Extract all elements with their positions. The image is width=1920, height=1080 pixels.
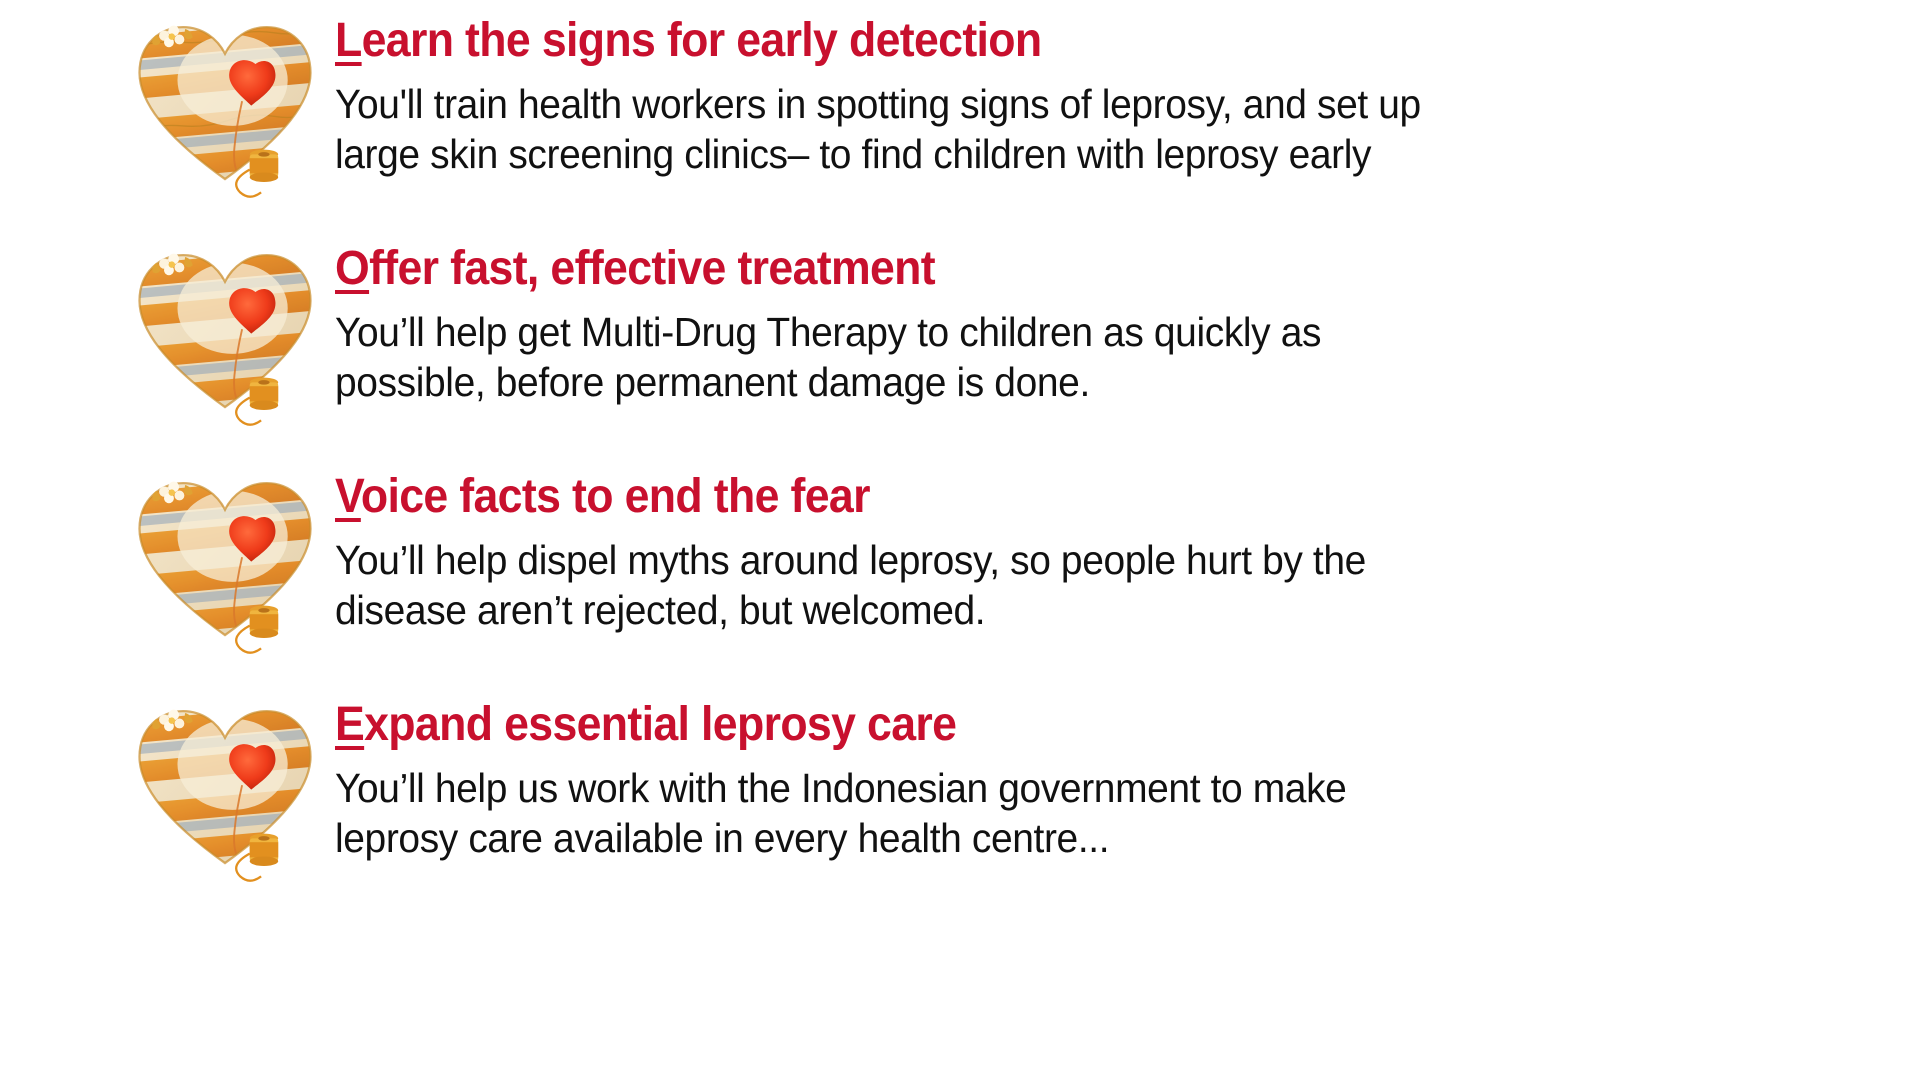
body-line: You’ll help dispel myths around leprosy,… xyxy=(335,535,1523,585)
item-body: You’ll help dispel myths around leprosy,… xyxy=(335,535,1523,635)
item-body: You'll train health workers in spotting … xyxy=(335,79,1523,179)
quilted-heart-emoji xyxy=(130,238,320,428)
heading-first-letter: L xyxy=(335,14,362,67)
list-item: Learn the signs for early detection You'… xyxy=(0,6,1920,234)
item-heading: Expand essential leprosy care xyxy=(335,696,1809,754)
body-line: disease aren’t rejected, but welcomed. xyxy=(335,585,1523,635)
heading-rest: xpand essential leprosy care xyxy=(364,698,956,751)
quilted-heart-emoji xyxy=(130,694,320,884)
icon-cell xyxy=(130,6,335,200)
text-cell: Learn the signs for early detection You'… xyxy=(335,6,1920,179)
item-heading: Learn the signs for early detection xyxy=(335,12,1809,70)
list-item: Expand essential leprosy care You’ll hel… xyxy=(0,690,1920,918)
text-cell: Offer fast, effective treatment You’ll h… xyxy=(335,234,1920,407)
body-line: large skin screening clinics– to find ch… xyxy=(335,129,1523,179)
quilted-heart-emoji xyxy=(130,466,320,656)
heading-first-letter: V xyxy=(335,470,361,523)
list-item: Voice facts to end the fear You’ll help … xyxy=(0,462,1920,690)
item-body: You’ll help get Multi-Drug Therapy to ch… xyxy=(335,307,1523,407)
icon-cell xyxy=(130,462,335,656)
item-heading: Voice facts to end the fear xyxy=(335,468,1809,526)
icon-cell xyxy=(130,234,335,428)
body-line: possible, before permanent damage is don… xyxy=(335,357,1523,407)
body-line: leprosy care available in every health c… xyxy=(335,813,1523,863)
body-line: You’ll help us work with the Indonesian … xyxy=(335,763,1523,813)
item-heading: Offer fast, effective treatment xyxy=(335,240,1809,298)
item-body: You’ll help us work with the Indonesian … xyxy=(335,763,1523,863)
text-cell: Voice facts to end the fear You’ll help … xyxy=(335,462,1920,635)
leprosy-benefits-list-page: Learn the signs for early detection You'… xyxy=(0,0,1920,1080)
heading-first-letter: E xyxy=(335,698,364,751)
body-line: You'll train health workers in spotting … xyxy=(335,79,1523,129)
quilted-heart-emoji xyxy=(130,10,320,200)
heading-first-letter: O xyxy=(335,242,369,295)
body-line: You’ll help get Multi-Drug Therapy to ch… xyxy=(335,307,1523,357)
heading-rest: earn the signs for early detection xyxy=(362,14,1042,67)
heading-rest: oice facts to end the fear xyxy=(361,470,870,523)
list-item: Offer fast, effective treatment You’ll h… xyxy=(0,234,1920,462)
heading-rest: ffer fast, effective treatment xyxy=(369,242,935,295)
icon-cell xyxy=(130,690,335,884)
text-cell: Expand essential leprosy care You’ll hel… xyxy=(335,690,1920,863)
